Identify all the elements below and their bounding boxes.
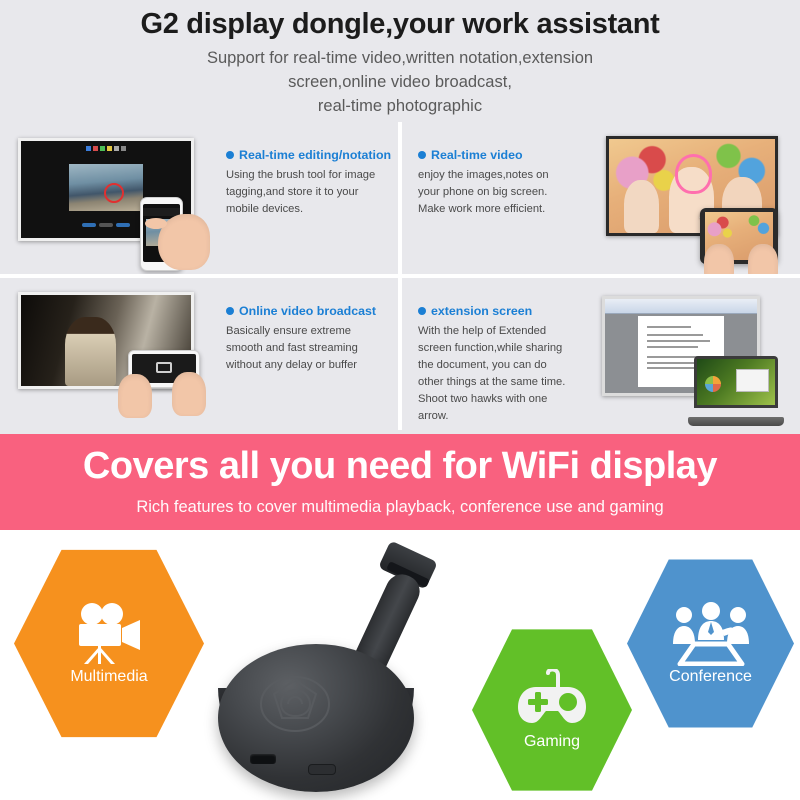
feature-card-online-video-broadcast: Online video broadcast Basically ensure … <box>0 278 398 430</box>
reset-button[interactable] <box>308 764 336 775</box>
product-showcase: Multimedia Gaming Conference <box>0 530 800 800</box>
windows-logo-icon <box>705 376 721 392</box>
hexagon-multimedia[interactable]: Multimedia <box>14 546 204 741</box>
aperture-logo-icon <box>258 674 332 734</box>
feature-heading-extension-screen: extension screen <box>418 304 568 318</box>
feature-body-realtime-video: enjoy the images,notes on your phone on … <box>418 167 568 218</box>
promo-banner: Covers all you need for WiFi display Ric… <box>0 434 800 530</box>
page-header: G2 display dongle,your work assistant Su… <box>0 0 800 119</box>
hexagon-conference[interactable]: Conference <box>627 556 794 731</box>
feature-heading-realtime-video: Real-time video <box>418 148 568 162</box>
hand-illustration-right <box>748 244 778 274</box>
movie-camera-icon <box>72 602 146 666</box>
feature-image-tv-birthday: Happy birthday <box>582 122 800 274</box>
feature-card-extension-screen: extension screen With the help of Extend… <box>402 278 800 430</box>
banner-tagline: Rich features to cover multimedia playba… <box>136 498 663 517</box>
gamepad-icon <box>514 669 590 731</box>
feature-image-monitor-document <box>582 278 800 430</box>
feature-image-tv-movie <box>0 278 218 430</box>
feature-body-extension-screen: With the help of Extended screen functio… <box>418 323 568 425</box>
micro-usb-port <box>250 754 276 764</box>
hand-illustration-left <box>118 374 152 418</box>
page-title: G2 display dongle,your work assistant <box>0 8 800 41</box>
feature-grid: Real-time editing/notation Using the bru… <box>0 122 800 430</box>
feature-text-online-video-broadcast: Online video broadcast Basically ensure … <box>218 278 398 430</box>
subtitle-line-1: Support for real-time video,written nota… <box>0 47 800 71</box>
subtitle-line-2: screen,online video broadcast, <box>0 71 800 95</box>
feature-heading-label: Real-time video <box>431 148 523 162</box>
hexagon-label-multimedia: Multimedia <box>70 668 147 686</box>
feature-body-online-video-broadcast: Basically ensure extreme smooth and fast… <box>226 323 384 374</box>
hexagon-gaming[interactable]: Gaming <box>472 626 632 794</box>
feature-text-realtime-editing: Real-time editing/notation Using the bru… <box>218 122 398 274</box>
feature-text-realtime-video: Real-time video enjoy the images,notes o… <box>402 122 582 274</box>
feature-heading-label: Online video broadcast <box>239 304 376 318</box>
product-dongle <box>196 548 456 798</box>
bullet-dot-icon <box>226 151 234 159</box>
feature-text-extension-screen: extension screen With the help of Extend… <box>402 278 582 430</box>
conference-people-icon <box>668 602 754 666</box>
bullet-dot-icon <box>418 307 426 315</box>
bullet-dot-icon <box>418 151 426 159</box>
feature-heading-label: Real-time editing/notation <box>239 148 391 162</box>
laptop-mockup <box>688 356 784 426</box>
hand-illustration-left <box>704 244 734 274</box>
feature-heading-label: extension screen <box>431 304 532 318</box>
heart-annotation-icon <box>675 154 712 193</box>
hexagon-label-conference: Conference <box>669 668 752 686</box>
feature-card-realtime-video: Happy birthday Real-time video enjoy the… <box>402 122 800 274</box>
feature-body-realtime-editing: Using the brush tool for image tagging,a… <box>226 167 391 218</box>
hand-illustration-right <box>172 372 206 416</box>
banner-title: Covers all you need for WiFi display <box>83 447 717 485</box>
feature-card-realtime-editing: Real-time editing/notation Using the bru… <box>0 122 398 274</box>
subtitle-line-3: real-time photographic <box>0 95 800 119</box>
hexagon-label-gaming: Gaming <box>524 733 580 751</box>
screen-photo-seascape <box>69 164 144 211</box>
feature-heading-realtime-editing: Real-time editing/notation <box>226 148 391 162</box>
bullet-dot-icon <box>226 307 234 315</box>
feature-heading-online-video-broadcast: Online video broadcast <box>226 304 384 318</box>
page-subtitle: Support for real-time video,written nota… <box>0 47 800 119</box>
feature-image-tv-photo-editing <box>0 122 218 274</box>
